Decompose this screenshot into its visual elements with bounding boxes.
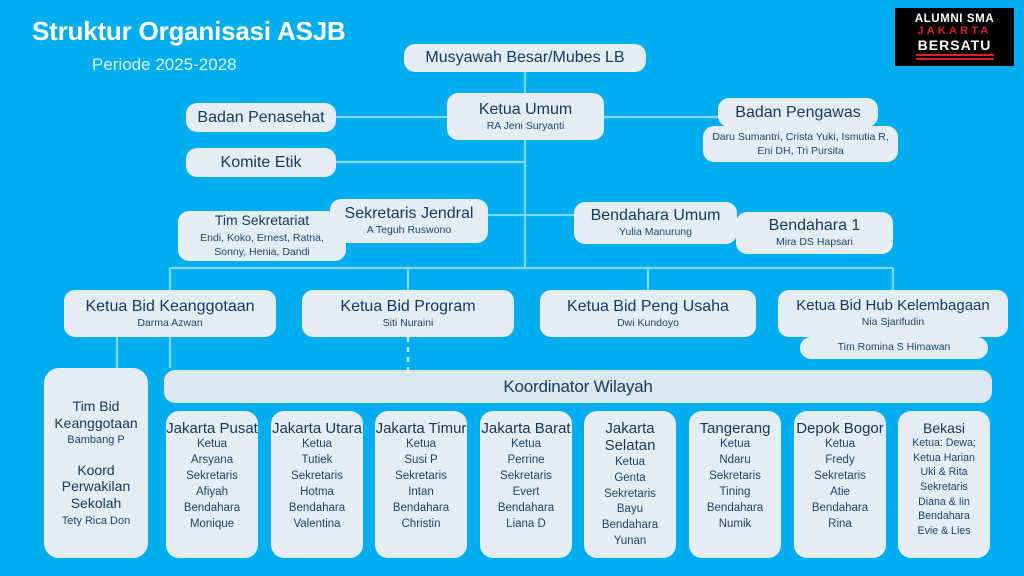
logo-stripe-1 xyxy=(916,54,994,56)
region-role-line: Sekretaris xyxy=(500,469,552,485)
node-bendahara-1-person: Mira DS Hapsari xyxy=(776,237,853,249)
timbid-group-2-name: Koord Perwakilan Sekolah xyxy=(50,462,142,512)
region-role-line: Sekretaris xyxy=(604,487,656,503)
region-role-line: Evie & Lies xyxy=(918,524,971,539)
node-ketua-bid-peng-usaha-person: Dwi Kundoyo xyxy=(617,318,679,330)
node-tim-sekretariat-title: Tim Sekretariat xyxy=(215,213,309,229)
region-role-line: Bendahara xyxy=(184,501,240,517)
region-card[interactable]: Jakarta BaratKetuaPerrineSekretarisEvert… xyxy=(480,411,572,558)
node-komite-etik[interactable]: Komite Etik xyxy=(186,148,336,177)
node-badan-penasehat[interactable]: Badan Penasehat xyxy=(186,103,336,132)
node-sekretaris-jendral-title: Sekretaris Jendral xyxy=(345,205,474,223)
region-role-line: Bendahara xyxy=(393,501,449,517)
node-badan-pengawas-members-text: Daru Sumantri, Crista Yuki, Ismutia R, E… xyxy=(711,130,890,158)
node-ketua-bid-program-person: Siti Nuraini xyxy=(383,318,434,330)
region-role-line: Rina xyxy=(828,517,852,533)
region-role-line: Atie xyxy=(830,485,850,501)
logo-line-2: JAKARTA xyxy=(917,26,991,37)
node-ketua-bid-program-title: Ketua Bid Program xyxy=(340,298,475,316)
timbid-group-1-name: Tim Bid Keanggotaan xyxy=(50,398,142,432)
node-ketua-bid-program[interactable]: Ketua Bid Program Siti Nuraini xyxy=(302,290,514,337)
region-role-line: Fredy xyxy=(825,453,854,469)
region-name: Jakarta Utara xyxy=(272,420,362,437)
node-koordinator-wilayah-title: Koordinator Wilayah xyxy=(503,377,652,397)
region-name: Bekasi xyxy=(923,420,965,436)
alumni-sma-jakarta-bersatu-logo: ALUMNI SMA JAKARTA BERSATU xyxy=(895,8,1014,66)
region-role-line: Tining xyxy=(720,485,751,501)
region-name: Jakarta Barat xyxy=(481,420,570,437)
region-card[interactable]: Jakarta TimurKetuaSusi PSekretarisIntanB… xyxy=(375,411,467,558)
region-role-line: Bendahara xyxy=(707,501,763,517)
node-bendahara-umum[interactable]: Bendahara Umum Yulia Manurung xyxy=(574,202,737,244)
region-role-line: Sekretaris xyxy=(814,469,866,485)
region-name: Tangerang xyxy=(700,420,771,437)
region-role-line: Ketua: Dewa; xyxy=(912,436,976,451)
node-badan-pengawas-members[interactable]: Daru Sumantri, Crista Yuki, Ismutia R, E… xyxy=(703,126,898,162)
region-name: Depok Bogor xyxy=(796,420,884,437)
region-role-line: Uki & Rita xyxy=(920,465,967,480)
region-role-line: Hotma xyxy=(300,485,334,501)
node-mubes-title: Musyawah Besar/Mubes LB xyxy=(425,49,624,67)
region-role-line: Bayu xyxy=(617,502,643,518)
region-role-line: Tutiek xyxy=(302,453,333,469)
node-ketua-bid-hub-kelembagaan-person: Nia Sjarifudin xyxy=(862,317,924,329)
region-role-line: Ketua xyxy=(406,437,436,453)
node-ketua-bid-hub-kelembagaan-title: Ketua Bid Hub Kelembagaan xyxy=(796,298,989,315)
region-role-line: Perrine xyxy=(507,453,544,469)
region-role-line: Ketua xyxy=(197,437,227,453)
region-role-line: Sekretaris xyxy=(920,480,968,495)
node-ketua-bid-peng-usaha[interactable]: Ketua Bid Peng Usaha Dwi Kundoyo xyxy=(540,290,756,337)
node-ketua-umum[interactable]: Ketua Umum RA Jeni Suryanti xyxy=(447,93,604,140)
timbid-group-2-person: Tety Rica Don xyxy=(50,514,142,528)
node-bendahara-umum-title: Bendahara Umum xyxy=(591,207,721,225)
region-role-line: Sekretaris xyxy=(186,469,238,485)
node-ketua-umum-person: RA Jeni Suryanti xyxy=(487,121,565,133)
region-role-line: Ketua xyxy=(302,437,332,453)
node-bendahara-1-title: Bendahara 1 xyxy=(769,217,861,235)
region-role-line: Genta xyxy=(614,471,645,487)
page-subtitle: Periode 2025-2028 xyxy=(92,55,237,75)
region-name: Jakarta Selatan xyxy=(584,420,676,455)
region-role-line: Monique xyxy=(190,517,234,533)
region-role-line: Liana D xyxy=(506,517,546,533)
region-role-line: Evert xyxy=(513,485,540,501)
node-ketua-bid-keanggotaan-person: Darma Azwan xyxy=(137,318,202,330)
region-role-line: Sekretaris xyxy=(709,469,761,485)
node-koordinator-wilayah[interactable]: Koordinator Wilayah xyxy=(164,370,992,403)
region-role-line: Sekretaris xyxy=(395,469,447,485)
region-role-line: Ketua xyxy=(511,437,541,453)
region-card[interactable]: Jakarta SelatanKetuaGentaSekretarisBayuB… xyxy=(584,411,676,558)
region-role-line: Susi P xyxy=(404,453,437,469)
region-role-line: Bendahara xyxy=(289,501,345,517)
region-role-line: Valentina xyxy=(293,517,340,533)
logo-stripe-2 xyxy=(916,58,994,60)
node-ketua-umum-title: Ketua Umum xyxy=(479,101,572,119)
region-card[interactable]: BekasiKetua: Dewa;Ketua HarianUki & Rita… xyxy=(898,411,990,558)
region-card[interactable]: Jakarta UtaraKetuaTutiekSekretarisHotmaB… xyxy=(271,411,363,558)
region-role-line: Diana & Iin xyxy=(918,495,970,510)
node-badan-penasehat-title: Badan Penasehat xyxy=(197,109,324,127)
region-role-line: Christin xyxy=(402,517,441,533)
region-card[interactable]: Depok BogorKetuaFredySekretarisAtieBenda… xyxy=(794,411,886,558)
card-tim-bid-keanggotaan[interactable]: Tim Bid Keanggotaan Bambang P Koord Perw… xyxy=(44,368,148,558)
node-ketua-bid-keanggotaan-title: Ketua Bid Keanggotaan xyxy=(85,298,254,316)
node-badan-pengawas-title: Badan Pengawas xyxy=(735,104,860,122)
node-tim-sekretariat-members: Endi, Koko, Ernest, Ratna, Sonny, Henia,… xyxy=(186,231,338,259)
region-role-line: Intan xyxy=(408,485,434,501)
region-role-line: Bendahara xyxy=(602,518,658,534)
region-role-line: Bendahara xyxy=(918,509,970,524)
timbid-group-2: Koord Perwakilan Sekolah Tety Rica Don xyxy=(50,462,142,529)
node-ketua-bid-hub-kelembagaan[interactable]: Ketua Bid Hub Kelembagaan Nia Sjarifudin xyxy=(778,290,1008,337)
region-role-line: Arsyana xyxy=(191,453,233,469)
node-bendahara-1[interactable]: Bendahara 1 Mira DS Hapsari xyxy=(736,212,893,254)
timbid-group-1: Tim Bid Keanggotaan Bambang P xyxy=(50,398,142,448)
region-role-line: Ketua xyxy=(615,455,645,471)
node-tim-sekretariat[interactable]: Tim Sekretariat Endi, Koko, Ernest, Ratn… xyxy=(178,211,346,261)
node-komite-etik-title: Komite Etik xyxy=(221,154,302,172)
region-role-line: Ketua xyxy=(825,437,855,453)
region-role-line: Afiyah xyxy=(196,485,228,501)
region-name: Jakarta Timur xyxy=(376,420,467,437)
region-card[interactable]: TangerangKetuaNdaruSekretarisTiningBenda… xyxy=(689,411,781,558)
region-role-line: Ndaru xyxy=(719,453,750,469)
logo-line-3: BERSATU xyxy=(918,38,992,52)
node-sekretaris-jendral-person: A Teguh Ruswono xyxy=(367,225,451,237)
region-role-line: Ketua Harian xyxy=(913,451,975,466)
region-role-line: Sekretaris xyxy=(291,469,343,485)
logo-line-1: ALUMNI SMA xyxy=(915,14,994,26)
org-chart-canvas: Struktur Organisasi ASJB Periode 2025-20… xyxy=(0,0,1024,576)
node-ketua-bid-keanggotaan[interactable]: Ketua Bid Keanggotaan Darma Azwan xyxy=(64,290,276,337)
node-sekretaris-jendral[interactable]: Sekretaris Jendral A Teguh Ruswono xyxy=(330,199,488,243)
node-tim-romina[interactable]: Tim Romina S Himawan xyxy=(800,337,988,359)
region-role-line: Numik xyxy=(719,517,752,533)
page-title: Struktur Organisasi ASJB xyxy=(32,16,346,47)
region-role-line: Bendahara xyxy=(812,501,868,517)
node-bendahara-umum-person: Yulia Manurung xyxy=(619,227,692,239)
node-badan-pengawas[interactable]: Badan Pengawas xyxy=(718,98,878,127)
timbid-group-1-person: Bambang P xyxy=(50,433,142,447)
region-role-line: Yunan xyxy=(614,534,647,550)
node-tim-romina-text: Tim Romina S Himawan xyxy=(838,342,951,354)
region-card[interactable]: Jakarta PusatKetuaArsyanaSekretarisAfiya… xyxy=(166,411,258,558)
region-role-line: Bendahara xyxy=(498,501,554,517)
region-name: Jakarta Pusat xyxy=(166,420,258,437)
node-ketua-bid-peng-usaha-title: Ketua Bid Peng Usaha xyxy=(567,298,729,316)
region-role-line: Ketua xyxy=(720,437,750,453)
node-mubes[interactable]: Musyawah Besar/Mubes LB xyxy=(404,44,646,72)
